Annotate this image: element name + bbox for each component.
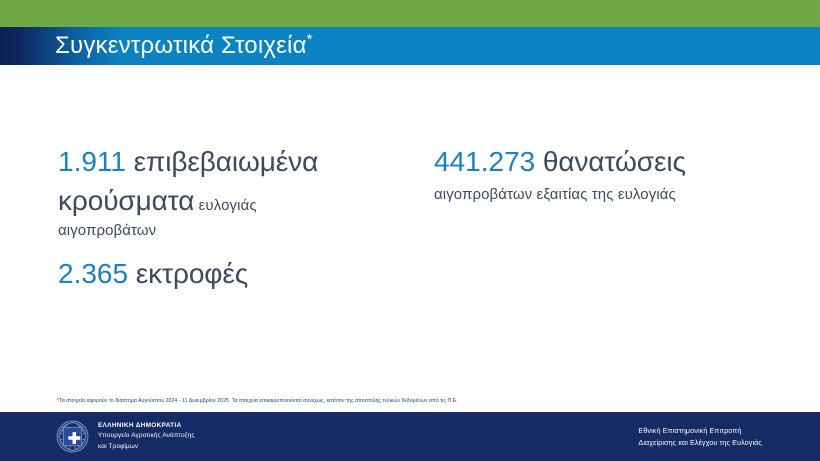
committee-name: Εθνική Επιστημονική Επιτροπή Διαχείρισης… xyxy=(638,425,762,449)
page-title-asterisk: * xyxy=(307,31,313,48)
slide-root: Συγκεντρωτικά Στοιχεία* 1.911 επιβεβαιωμ… xyxy=(0,0,820,461)
footer-ministry-block: ΕΛΛΗΝΙΚΗ ΔΗΜΟΚΡΑΤΙΑ Υπουργείο Αγροτικής … xyxy=(56,420,195,453)
ministry-name: ΕΛΛΗΝΙΚΗ ΔΗΜΟΚΡΑΤΙΑ Υπουργείο Αγροτικής … xyxy=(98,421,195,452)
stat-confirmed-cases-sublabel-line2: αιγοπροβάτων xyxy=(58,220,408,243)
stat-culled-animals-line: 441.273 θανατώσεις xyxy=(434,143,794,182)
page-title: Συγκεντρωτικά Στοιχεία* xyxy=(55,29,313,63)
committee-line-2: Διαχείρισης και Ελέγχου της Ευλογιάς xyxy=(638,437,762,449)
ministry-line-2: Υπουργείο Αγροτικής Ανάπτυξης xyxy=(98,431,195,441)
stat-farms-line: 2.365 εκτροφές xyxy=(58,255,408,294)
stat-farms-number: 2.365 xyxy=(58,258,128,289)
stat-confirmed-cases-number: 1.911 xyxy=(58,146,126,177)
stat-farms-label: εκτροφές xyxy=(128,258,248,289)
stat-culled-animals-number: 441.273 xyxy=(434,146,535,177)
footnote: *Τα στοιχεία αφορούν το διάστημα Αυγούστ… xyxy=(57,398,777,405)
stat-confirmed-cases-line: 1.911 επιβεβαιωμένα κρούσματα ευλογιάς xyxy=(58,143,408,220)
stat-farms: 2.365 εκτροφές xyxy=(58,255,408,294)
top-green-band xyxy=(0,0,820,27)
stat-confirmed-cases-sublabel: ευλογιάς xyxy=(194,197,256,214)
main-content: 1.911 επιβεβαιωμένα κρούσματα ευλογιάς α… xyxy=(0,65,820,392)
footer-bar: ΕΛΛΗΝΙΚΗ ΔΗΜΟΚΡΑΤΙΑ Υπουργείο Αγροτικής … xyxy=(0,412,820,461)
page-title-text: Συγκεντρωτικά Στοιχεία xyxy=(55,32,307,59)
stat-confirmed-cases: 1.911 επιβεβαιωμένα κρούσματα ευλογιάς α… xyxy=(58,143,408,243)
stat-culled-animals-label: θανατώσεις xyxy=(535,146,686,177)
stat-culled-animals-sublabel-line2: αιγοπροβάτων εξαιτίας της ευλογιάς xyxy=(434,184,794,207)
ministry-line-3: και Τροφίμων xyxy=(98,442,195,452)
ministry-line-1: ΕΛΛΗΝΙΚΗ ΔΗΜΟΚΡΑΤΙΑ xyxy=(98,421,195,431)
stat-culled-animals: 441.273 θανατώσεις αιγοπροβάτων εξαιτίας… xyxy=(434,143,794,206)
greek-republic-coat-of-arms-icon xyxy=(56,420,89,453)
committee-line-1: Εθνική Επιστημονική Επιτροπή xyxy=(638,425,762,437)
